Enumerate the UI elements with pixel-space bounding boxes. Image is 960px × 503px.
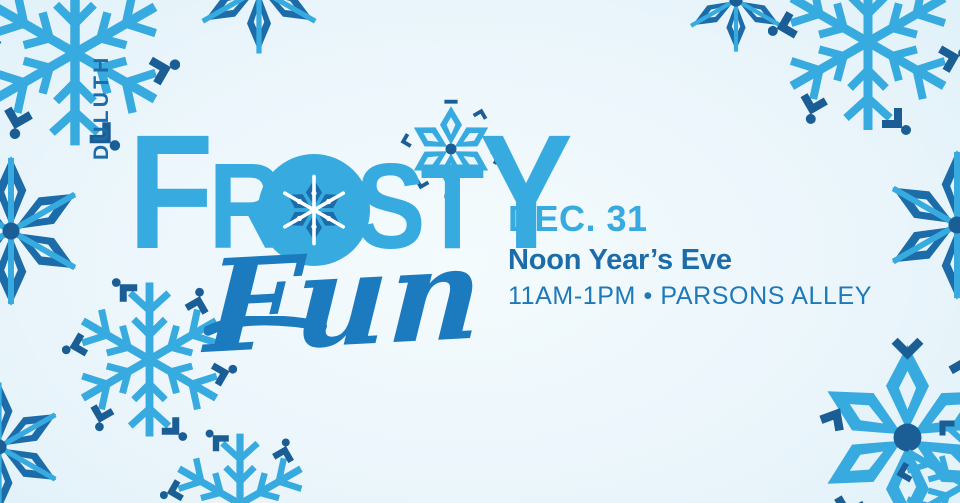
logo-script-fun: Fun [203, 230, 486, 372]
logo-city-duluth: DULUTH [90, 54, 114, 160]
snowflake-bottom-right-icon [800, 330, 960, 503]
event-info-block: DEC. 31 Noon Year’s Eve 11AM-1PM • PARSO… [508, 200, 908, 309]
snowflake-right-edge-icon [890, 410, 960, 503]
frosty-letter-f: F [128, 100, 208, 283]
event-name: Noon Year’s Eve [508, 245, 908, 275]
logo-script-swash [204, 316, 328, 338]
snowflake-left-mid-icon [0, 146, 96, 316]
snowflake-left-bottom-icon [0, 372, 74, 503]
snowflake-top-right-b-icon [676, 0, 796, 60]
event-date: DEC. 31 [508, 200, 908, 238]
event-banner: DULUTH FROSTY [0, 0, 960, 503]
snowflake-top-right-a-icon [768, 0, 960, 142]
event-details: 11AM-1PM • PARSONS ALLEY [508, 283, 908, 309]
snowflake-top-center-icon [184, 0, 334, 64]
frosty-fun-logo: DULUTH FROSTY [96, 126, 516, 406]
snowflake-bottom-center-icon [160, 424, 320, 503]
